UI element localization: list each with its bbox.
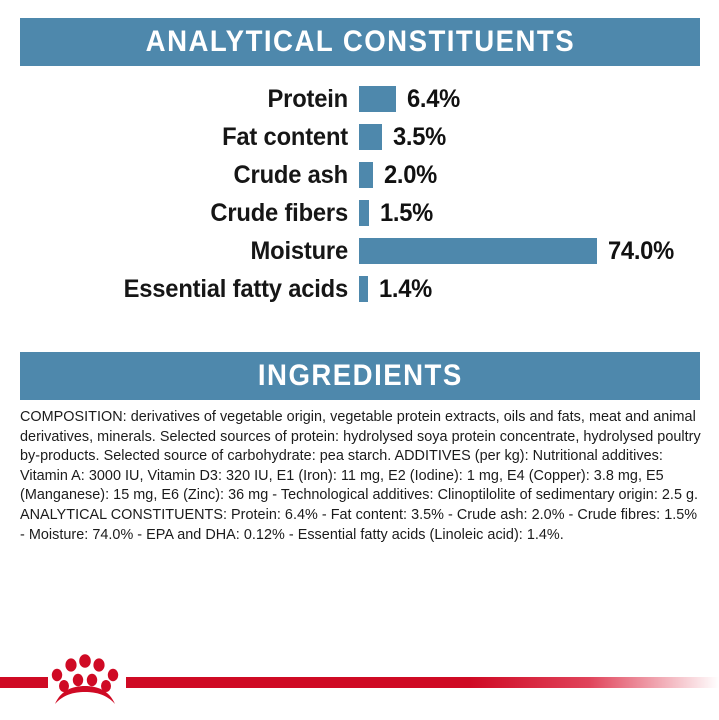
chart-row: Fat content3.5% — [0, 118, 719, 156]
chart-row-bar-group: 2.0% — [359, 156, 440, 194]
section-title-ingredients: INGREDIENTS — [258, 361, 463, 391]
section-header-analytical-constituents: ANALYTICAL CONSTITUENTS — [20, 18, 700, 66]
chart-row: Moisture74.0% — [0, 232, 719, 270]
chart-bar-value: 1.5% — [380, 199, 433, 228]
chart-row-bar-group: 74.0% — [359, 232, 677, 270]
chart-bar — [359, 162, 373, 188]
section-title-analytical-constituents: ANALYTICAL CONSTITUENTS — [145, 27, 574, 57]
chart-row-bar-group: 3.5% — [359, 118, 449, 156]
brand-stripe-left — [0, 677, 48, 688]
chart-bar — [359, 238, 597, 264]
chart-row: Crude ash2.0% — [0, 156, 719, 194]
chart-bar — [359, 276, 368, 302]
chart-bar-value: 74.0% — [608, 237, 674, 266]
chart-row-bar-group: 1.5% — [359, 194, 436, 232]
royal-canin-crown-paw-logo — [47, 650, 123, 706]
nutrition-panel: ANALYTICAL CONSTITUENTS Protein6.4%Fat c… — [0, 0, 719, 720]
chart-row-label: Essential fatty acids — [17, 275, 348, 304]
composition-text: COMPOSITION: derivatives of vegetable or… — [20, 408, 703, 545]
chart-bar — [359, 86, 396, 112]
chart-row-label: Moisture — [17, 237, 348, 266]
chart-row-label: Fat content — [17, 123, 348, 152]
chart-row-bar-group: 6.4% — [359, 80, 463, 118]
chart-row-bar-group: 1.4% — [359, 270, 435, 308]
chart-bar-value: 1.4% — [379, 275, 432, 304]
chart-row: Crude fibers1.5% — [0, 194, 719, 232]
chart-row-label: Protein — [17, 85, 348, 114]
chart-bar-value: 3.5% — [393, 123, 446, 152]
chart-row-label: Crude ash — [17, 161, 348, 190]
chart-row-label: Crude fibers — [17, 199, 348, 228]
section-header-ingredients: INGREDIENTS — [20, 352, 700, 400]
chart-row: Protein6.4% — [0, 80, 719, 118]
chart-row: Essential fatty acids1.4% — [0, 270, 719, 308]
analytical-constituents-chart: Protein6.4%Fat content3.5%Crude ash2.0%C… — [0, 80, 719, 330]
chart-bar-value: 2.0% — [384, 161, 437, 190]
footer-brand-strip — [0, 628, 719, 720]
chart-bar — [359, 124, 382, 150]
chart-bar-value: 6.4% — [407, 85, 460, 114]
brand-stripe-right — [126, 677, 719, 688]
chart-bar — [359, 200, 369, 226]
